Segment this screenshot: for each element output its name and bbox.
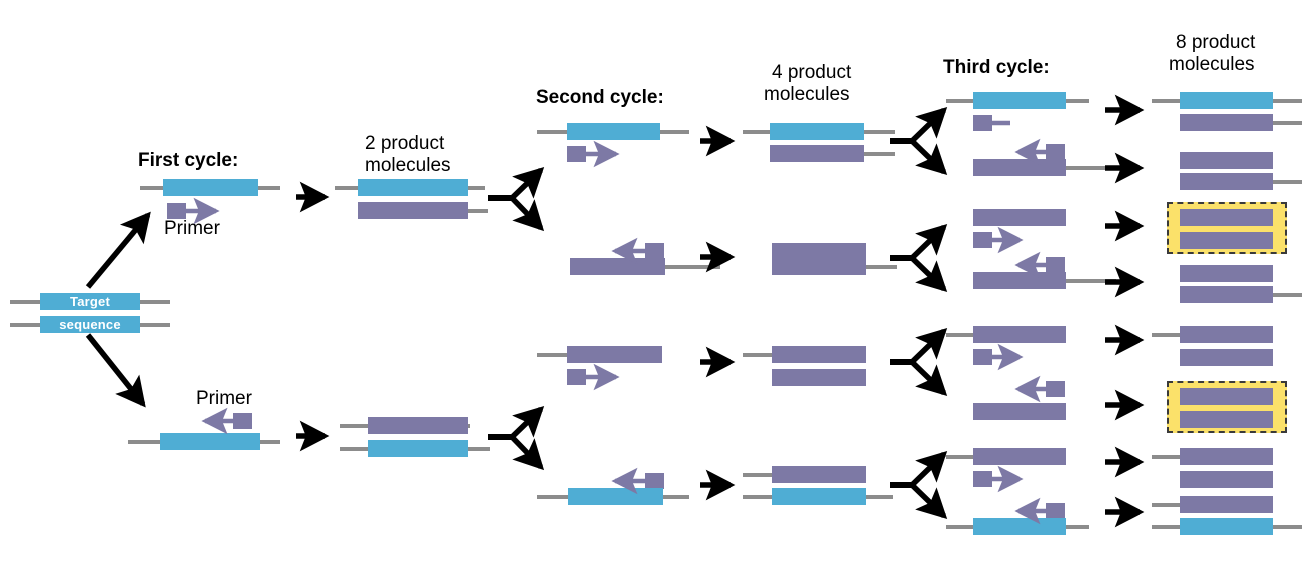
product-strand-purple bbox=[1180, 411, 1273, 428]
template-box-blue bbox=[163, 179, 258, 196]
primer-extension-tail bbox=[992, 121, 1008, 125]
primer-extension-tail bbox=[622, 479, 646, 483]
first-cycle-label: First cycle: bbox=[138, 150, 238, 171]
product-strand-purple bbox=[772, 346, 866, 363]
primer-block bbox=[167, 203, 186, 219]
primer-extension-tail bbox=[1022, 387, 1047, 391]
branch-splitter-c2-r2 bbox=[890, 227, 944, 289]
branch-splitter-c2-r4 bbox=[890, 454, 944, 516]
primer-extension-tail bbox=[1022, 263, 1047, 267]
product-strand-purple bbox=[1180, 448, 1273, 465]
product-strand-purple bbox=[1180, 286, 1273, 303]
template-box-blue bbox=[973, 518, 1066, 535]
primer-block bbox=[567, 369, 586, 385]
product-strand-blue bbox=[1180, 92, 1273, 109]
product-strand-purple bbox=[772, 369, 866, 386]
two-products-label-line1: 2 product bbox=[365, 133, 444, 154]
template-box-blue bbox=[567, 123, 660, 140]
product-strand-blue bbox=[1180, 518, 1273, 535]
product-strand-purple bbox=[770, 145, 864, 162]
primer-block bbox=[645, 243, 664, 259]
branch-splitter-c2-r3 bbox=[890, 331, 944, 393]
product-strand-purple bbox=[1180, 265, 1273, 282]
primer-extension-tail bbox=[992, 477, 1008, 481]
branch-splitter-c1-bottom bbox=[488, 409, 541, 467]
product-strand-purple bbox=[368, 417, 468, 434]
product-strand-purple bbox=[1180, 471, 1273, 488]
template-box-purple bbox=[973, 159, 1066, 176]
product-strand-purple bbox=[1180, 114, 1273, 131]
primer-block bbox=[1046, 257, 1065, 273]
template-box-purple bbox=[973, 403, 1066, 420]
primer-block bbox=[645, 473, 664, 489]
primer-extension-tail bbox=[214, 419, 234, 423]
primer-label-bottom: Primer bbox=[196, 388, 252, 409]
eight-products-label-line2: molecules bbox=[1169, 54, 1255, 75]
product-strand-purple bbox=[358, 202, 468, 219]
template-box-purple bbox=[973, 209, 1066, 226]
template-box-purple bbox=[973, 448, 1066, 465]
product-strand-purple bbox=[772, 258, 866, 275]
product-strand-purple bbox=[772, 466, 866, 483]
primer-block bbox=[973, 232, 992, 248]
product-strand-blue bbox=[770, 123, 864, 140]
product-strand-purple bbox=[1180, 326, 1273, 343]
primer-label-top: Primer bbox=[164, 218, 220, 239]
primer-extension-tail bbox=[586, 152, 604, 156]
third-cycle-label: Third cycle: bbox=[943, 57, 1050, 78]
primer-extension-tail bbox=[1022, 509, 1047, 513]
target-label-line2: sequence bbox=[40, 316, 140, 333]
primer-block bbox=[973, 115, 992, 131]
four-products-label-line1: 4 product bbox=[772, 62, 851, 83]
product-strand-blue bbox=[358, 179, 468, 196]
template-box-purple bbox=[570, 258, 665, 275]
eight-products-label-line1: 8 product bbox=[1176, 32, 1255, 53]
second-cycle-label: Second cycle: bbox=[536, 87, 664, 108]
product-strand-purple bbox=[1180, 152, 1273, 169]
pcr-amplification-figure: First cycle: Second cycle: Third cycle: … bbox=[0, 0, 1310, 566]
primer-extension-tail bbox=[186, 209, 203, 213]
branch-splitter-c1-top bbox=[488, 170, 541, 228]
template-box-blue bbox=[973, 92, 1066, 109]
template-box-blue bbox=[568, 488, 663, 505]
product-strand-blue bbox=[772, 488, 866, 505]
template-box-purple bbox=[973, 272, 1066, 289]
primer-block bbox=[973, 349, 992, 365]
four-products-label-line2: molecules bbox=[764, 84, 850, 105]
target-label-line1: Target bbox=[40, 293, 140, 310]
template-box-purple bbox=[567, 346, 662, 363]
primer-arrowheads bbox=[186, 123, 1046, 511]
primer-block bbox=[1046, 503, 1065, 519]
primer-block bbox=[1046, 381, 1065, 397]
primer-extension-tail bbox=[1022, 150, 1047, 154]
primer-extension-tail bbox=[992, 355, 1008, 359]
product-strand-purple bbox=[1180, 209, 1273, 226]
primer-extension-tail bbox=[586, 375, 604, 379]
primer-block bbox=[1046, 144, 1065, 160]
primer-block bbox=[973, 471, 992, 487]
primer-block bbox=[567, 146, 586, 162]
product-strand-purple bbox=[1180, 349, 1273, 366]
product-strand-purple bbox=[1180, 232, 1273, 249]
product-strand-purple bbox=[1180, 388, 1273, 405]
product-strand-purple bbox=[1180, 496, 1273, 513]
product-strand-purple bbox=[1180, 173, 1273, 190]
branch-splitter-c2-r1 bbox=[890, 110, 944, 172]
primer-extension-tail bbox=[622, 249, 646, 253]
template-box-blue bbox=[160, 433, 260, 450]
template-box-purple bbox=[973, 326, 1066, 343]
product-strand-blue bbox=[368, 440, 468, 457]
two-products-label-line2: molecules bbox=[365, 155, 451, 176]
primer-extension-tail bbox=[992, 238, 1008, 242]
primer-block bbox=[233, 413, 252, 429]
